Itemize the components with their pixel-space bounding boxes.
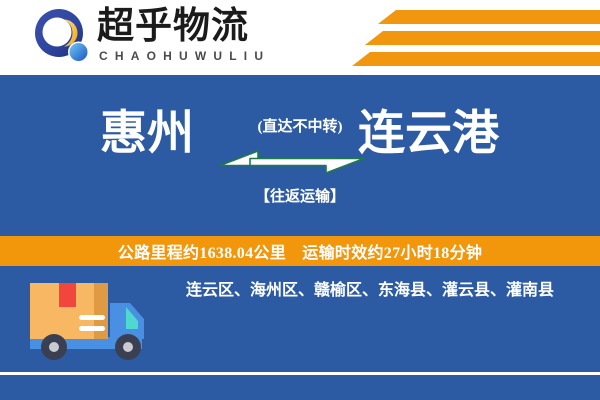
destination-city: 连云港: [358, 108, 558, 160]
decorative-stripe-2: [365, 31, 600, 45]
brand-pinyin: CHAOHUWULIU: [99, 49, 270, 63]
logistics-route-banner: 超乎物流 CHAOHUWULIU 惠州 (直达不中转) 【往返运输】 连云港 公…: [0, 0, 600, 400]
decorative-stripe-1: [378, 10, 600, 24]
ground-divider: [0, 372, 600, 375]
coverage-panel: 连云区、海州区、赣榆区、东海县、灌云县、灌南县: [0, 266, 600, 400]
route-metrics-text: 公路里程约1638.04公里 运输时效约27小时18分钟: [118, 239, 482, 263]
roundtrip-shipping-note: 【往返运输】: [224, 185, 376, 206]
chaohu-circle-logo-icon: [33, 8, 91, 66]
coverage-areas-text: 连云区、海州区、赣榆区、东海县、灌云县、灌南县: [150, 280, 590, 302]
decorative-stripe-3: [352, 52, 600, 66]
double-headed-arrow-icon: [218, 143, 366, 181]
route-panel: 惠州 (直达不中转) 【往返运输】 连云港: [0, 75, 600, 236]
delivery-truck-icon: [22, 275, 152, 371]
route-metrics-bar: 公路里程约1638.04公里 运输时效约27小时18分钟: [0, 236, 600, 266]
banner-header: 超乎物流 CHAOHUWULIU: [0, 0, 600, 75]
direct-shipping-note: (直达不中转): [224, 115, 376, 136]
origin-city: 惠州: [62, 108, 232, 160]
brand-name: 超乎物流: [97, 6, 249, 48]
